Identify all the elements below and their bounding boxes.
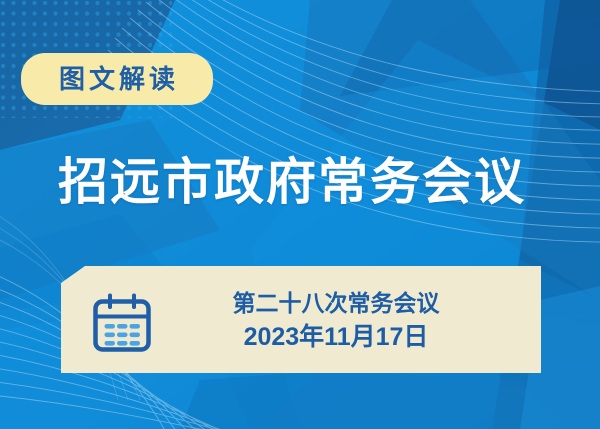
meeting-info-panel-content: 第二十八次常务会议 2023年11月17日 [61, 266, 541, 373]
meeting-date-label: 2023年11月17日 [171, 320, 501, 356]
calendar-icon-svg [91, 292, 153, 354]
calendar-icon [91, 292, 153, 354]
meeting-info-panel: 第二十八次常务会议 2023年11月17日 [61, 266, 541, 373]
page-title: 招远市政府常务会议 [58, 155, 558, 210]
section-badge: 图文解读 [21, 53, 213, 105]
meeting-info-text: 第二十八次常务会议 2023年11月17日 [171, 287, 501, 355]
meeting-session-label: 第二十八次常务会议 [171, 287, 501, 320]
section-badge-label: 图文解读 [55, 66, 179, 92]
poster-canvas: 图文解读 招远市政府常务会议 [0, 0, 600, 429]
